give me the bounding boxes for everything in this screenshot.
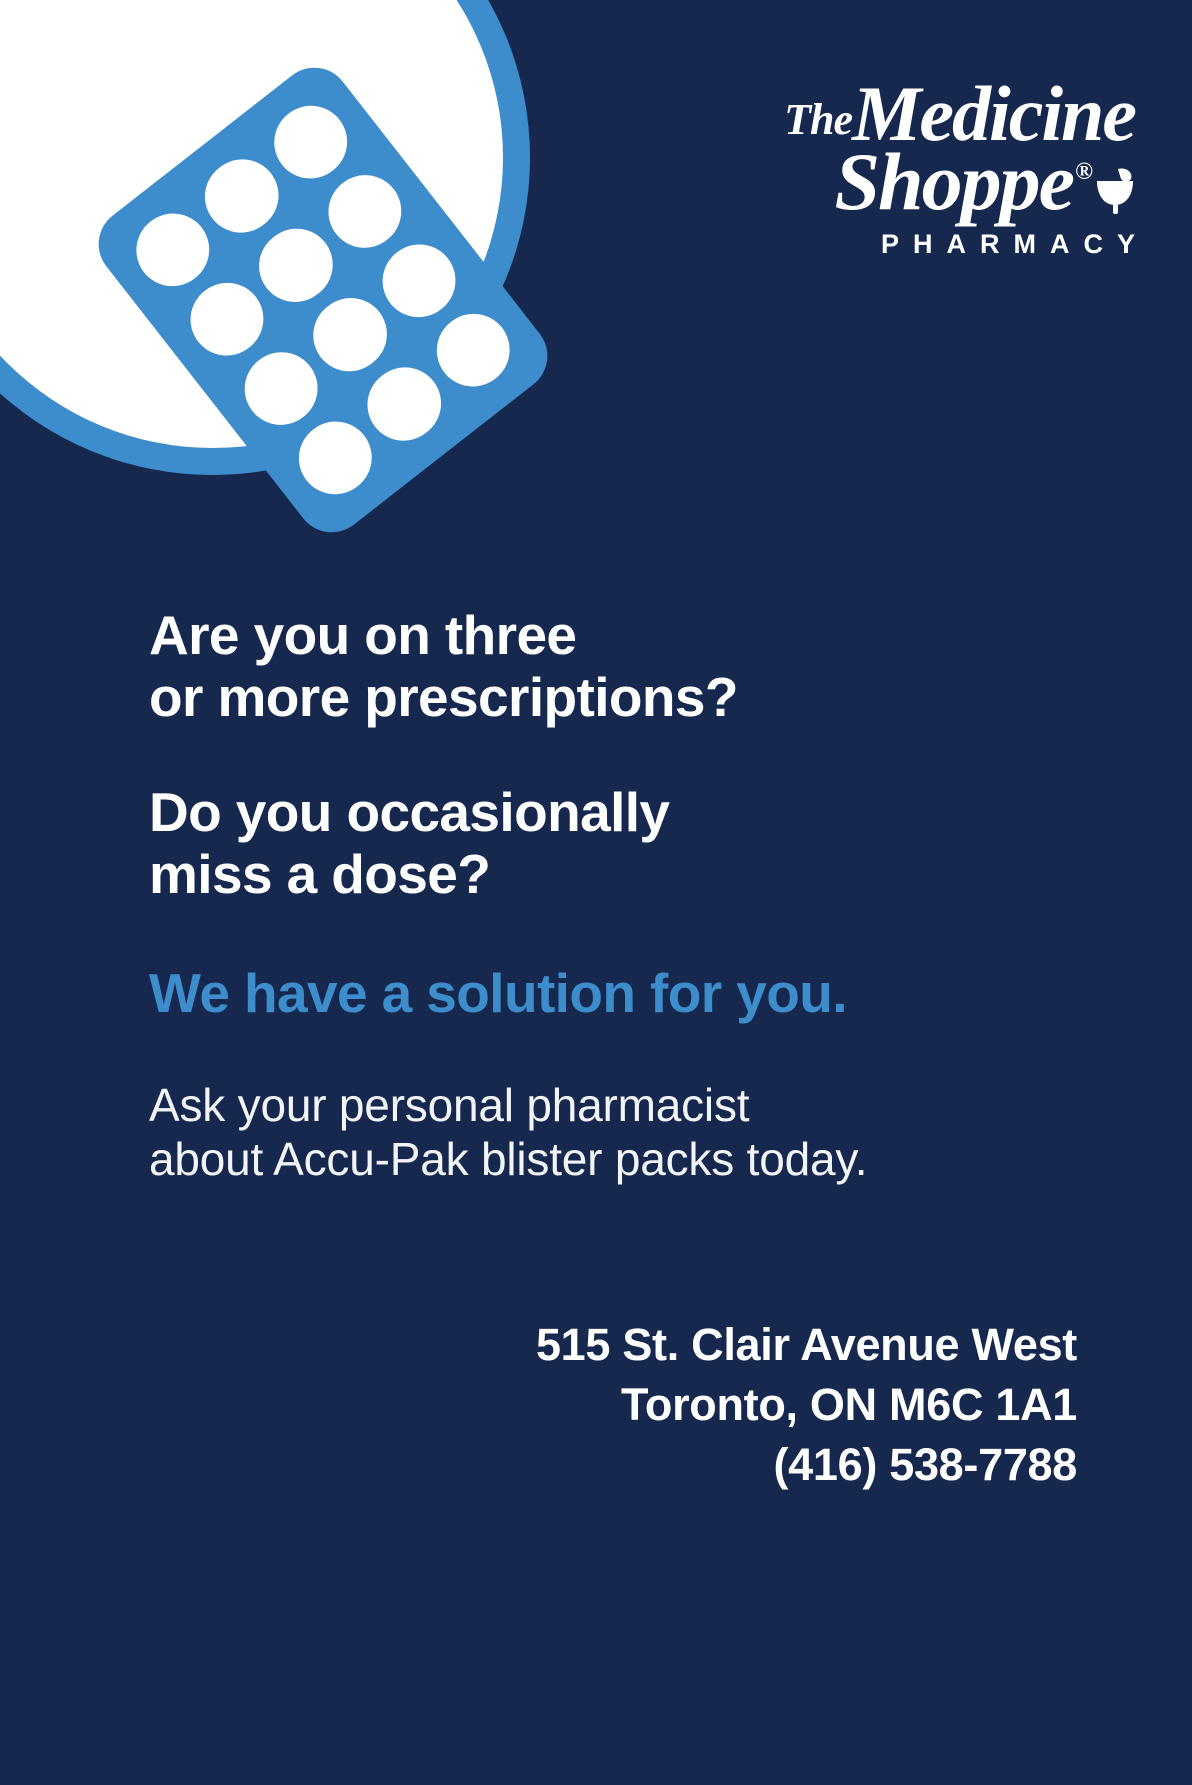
address-block: 515 St. Clair Avenue West Toronto, ON M6… bbox=[536, 1315, 1077, 1495]
brand-logo: TheMedicine Shoppe® PHARMACY bbox=[717, 78, 1137, 260]
headline-miss-dose: Do you occasionally miss a dose? bbox=[149, 782, 1079, 905]
poster-canvas: TheMedicine Shoppe® PHARMACY Are you on … bbox=[0, 0, 1192, 1785]
badge-inner-disc bbox=[0, 0, 503, 448]
brand-subtitle-pharmacy: PHARMACY bbox=[717, 229, 1149, 260]
blister-pack-badge bbox=[0, 0, 530, 475]
copy-block: Are you on three or more prescriptions? … bbox=[149, 605, 1079, 1187]
address-city-province-postal: Toronto, ON M6C 1A1 bbox=[536, 1375, 1077, 1435]
accent-solution-line: We have a solution for you. bbox=[149, 963, 1079, 1025]
brand-word-shoppe: Shoppe bbox=[834, 136, 1073, 227]
headline-prescriptions: Are you on three or more prescriptions? bbox=[149, 605, 1079, 728]
phone-number[interactable]: (416) 538-7788 bbox=[536, 1435, 1077, 1495]
address-street: 515 St. Clair Avenue West bbox=[536, 1315, 1077, 1375]
mortar-and-pestle-icon bbox=[1093, 150, 1137, 200]
brand-logo-line-two: Shoppe® bbox=[717, 144, 1137, 219]
registered-trademark-icon: ® bbox=[1075, 159, 1091, 185]
body-copy-call-to-action: Ask your personal pharmacist about Accu-… bbox=[149, 1078, 1079, 1187]
